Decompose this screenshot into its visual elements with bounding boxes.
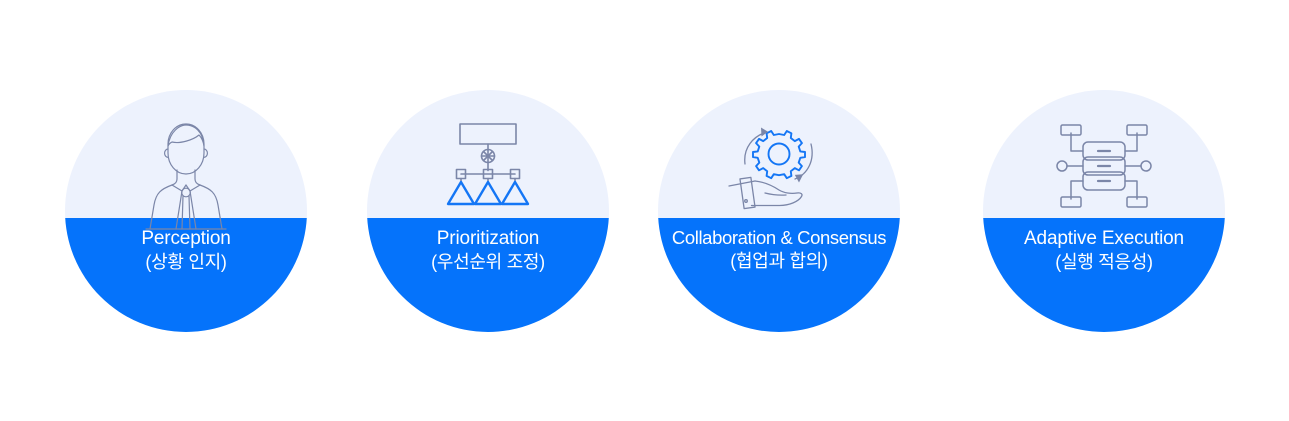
pillar-title-en: Perception	[51, 226, 321, 251]
pillar-caption: Collaboration & Consensus (협업과 합의)	[644, 226, 914, 274]
pillar-title-en: Prioritization	[353, 226, 623, 251]
pillar-caption: Prioritization (우선순위 조정)	[353, 226, 623, 275]
pillar-disc	[983, 90, 1225, 332]
disc-top-half	[367, 90, 609, 218]
pillar-title-en: Adaptive Execution	[969, 226, 1239, 251]
pillar-disc	[658, 90, 900, 332]
infographic-canvas: Perception (상황 인지)	[0, 0, 1289, 421]
pillar-perception[interactable]: Perception (상황 인지)	[65, 90, 307, 332]
pillar-title-en: Collaboration & Consensus	[644, 226, 914, 250]
pillar-disc	[367, 90, 609, 332]
pillar-caption: Perception (상황 인지)	[51, 226, 321, 275]
disc-top-half	[983, 90, 1225, 218]
pillar-title-ko: (실행 적응성)	[969, 251, 1239, 275]
pillar-disc	[65, 90, 307, 332]
disc-top-half	[658, 90, 900, 218]
disc-top-half	[65, 90, 307, 218]
pillar-title-ko: (협업과 합의)	[644, 250, 914, 274]
pillar-adaptive-execution[interactable]: Adaptive Execution (실행 적응성)	[983, 90, 1225, 332]
pillar-prioritization[interactable]: Prioritization (우선순위 조정)	[367, 90, 609, 332]
pillar-title-ko: (우선순위 조정)	[353, 251, 623, 275]
pillar-caption: Adaptive Execution (실행 적응성)	[969, 226, 1239, 275]
pillar-title-ko: (상황 인지)	[51, 251, 321, 275]
pillar-collaboration-consensus[interactable]: Collaboration & Consensus (협업과 합의)	[658, 90, 900, 332]
